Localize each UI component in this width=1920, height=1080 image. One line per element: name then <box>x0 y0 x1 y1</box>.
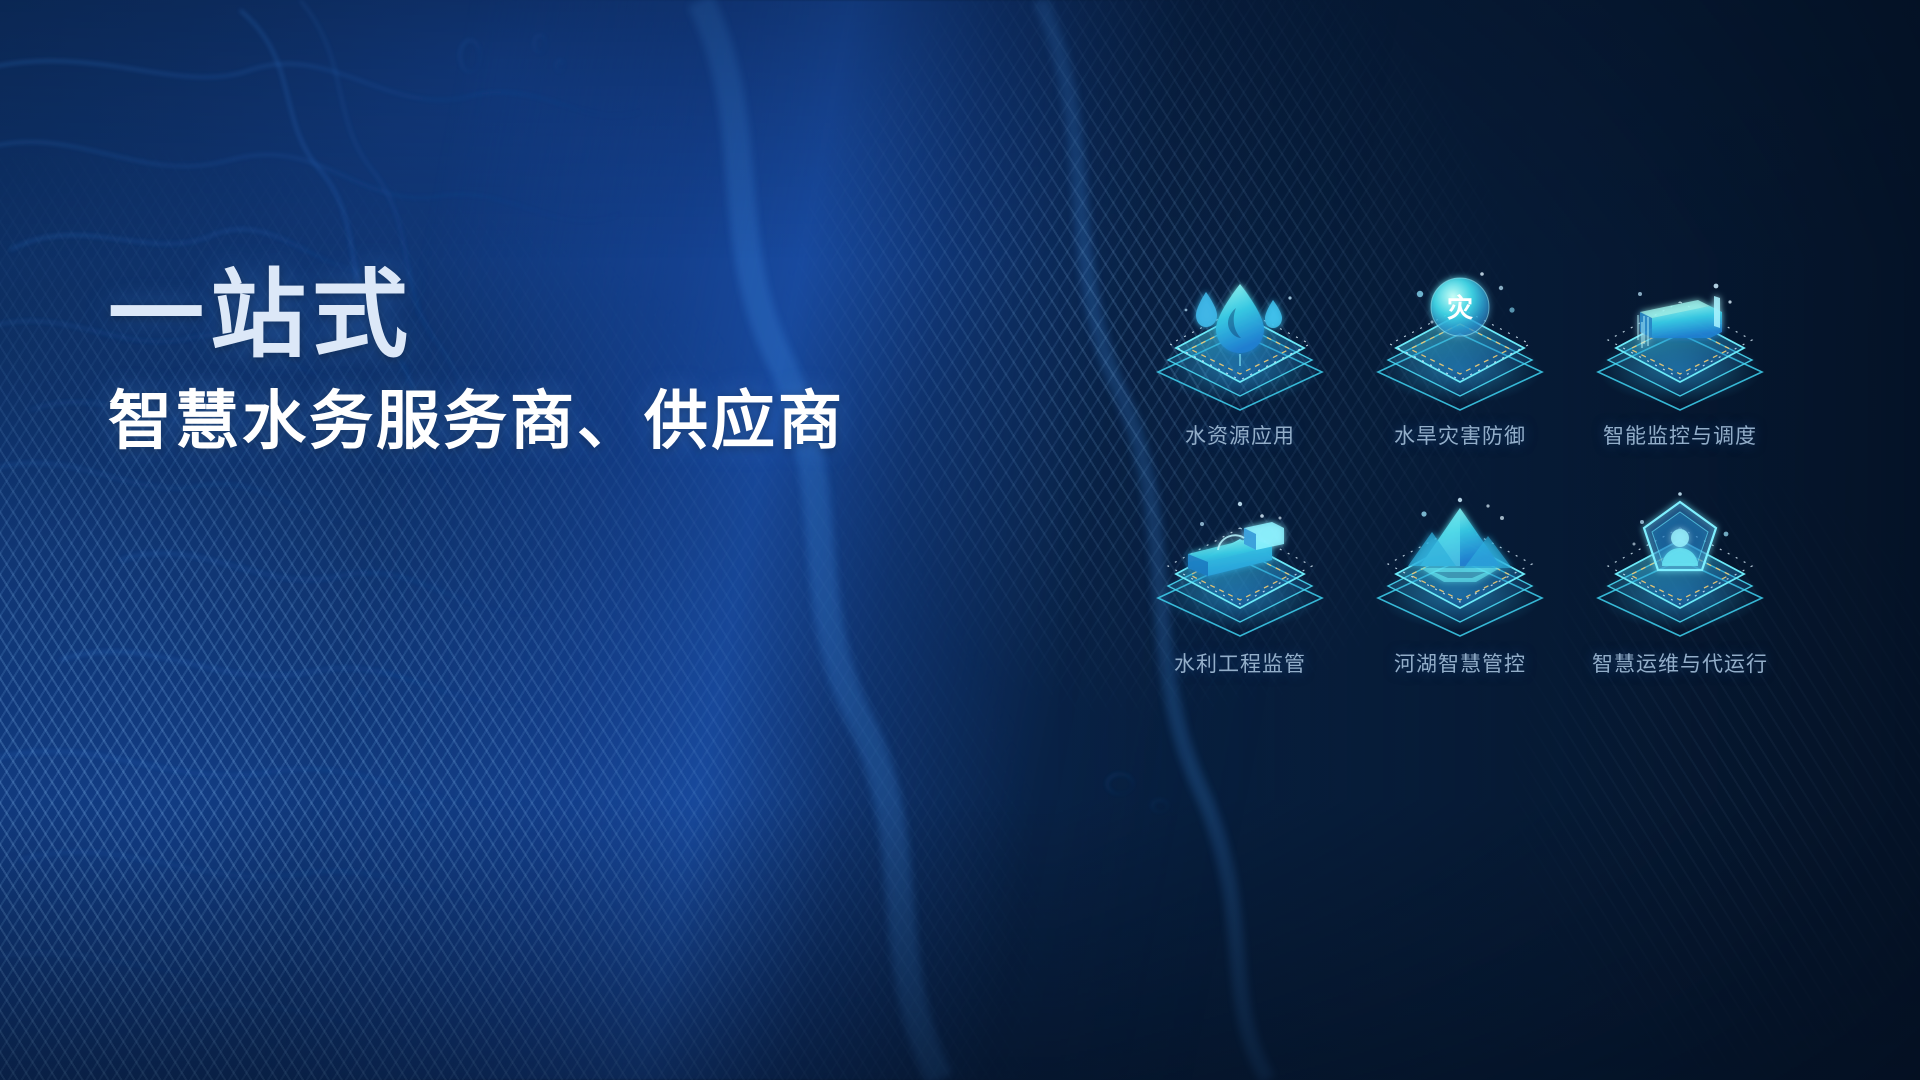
service-label: 智慧运维与代运行 <box>1592 648 1768 678</box>
service-icon-grid: 水资源应用 灾 <box>1130 262 1790 670</box>
hydro-structure-platform-icon <box>1140 488 1340 638</box>
page-title: 一站式 <box>108 268 845 364</box>
service-item-water-resource[interactable]: 水资源应用 <box>1130 262 1350 444</box>
water-droplet-platform-icon <box>1140 262 1340 412</box>
service-item-river-lake-management[interactable]: 河湖智慧管控 <box>1350 488 1570 670</box>
service-label: 河湖智慧管控 <box>1394 648 1526 678</box>
slide-canvas: 一站式 智慧水务服务商、供应商 <box>0 0 1920 1080</box>
shield-ops-platform-icon <box>1580 488 1780 638</box>
service-label: 智能监控与调度 <box>1603 420 1757 450</box>
service-item-hydro-project-supervision[interactable]: 水利工程监管 <box>1130 488 1350 670</box>
disaster-badge-char: 灾 <box>1447 293 1473 323</box>
service-item-smart-ops[interactable]: 智慧运维与代运行 <box>1570 488 1790 670</box>
service-item-flood-drought-defense[interactable]: 灾 水旱灾害防御 <box>1350 262 1570 444</box>
page-subtitle: 智慧水务服务商、供应商 <box>108 386 845 456</box>
service-item-intelligent-monitoring[interactable]: 智能监控与调度 <box>1570 262 1790 444</box>
service-label: 水旱灾害防御 <box>1394 420 1526 450</box>
disaster-sphere-platform-icon: 灾 <box>1360 262 1560 412</box>
service-label: 水利工程监管 <box>1174 648 1306 678</box>
service-label: 水资源应用 <box>1185 420 1295 450</box>
headline-block: 一站式 智慧水务服务商、供应商 <box>108 268 845 456</box>
dam-monitoring-platform-icon <box>1580 262 1780 412</box>
river-lake-platform-icon <box>1360 488 1560 638</box>
